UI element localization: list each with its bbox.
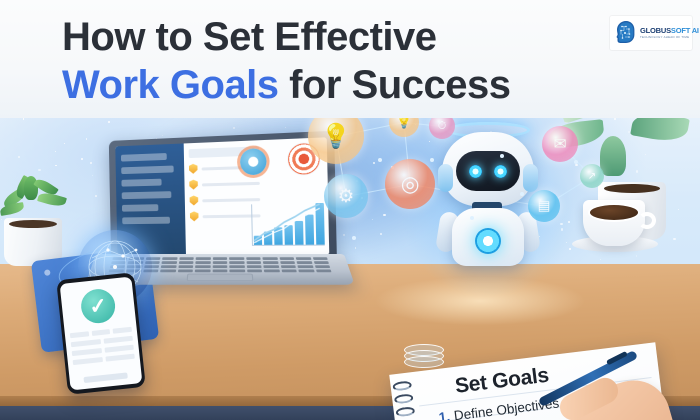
keyboard-key[interactable] (230, 269, 245, 272)
growth-icon: ↗ (580, 164, 604, 188)
keyboard-key[interactable] (280, 265, 295, 268)
keyboard-key[interactable] (196, 257, 211, 260)
phone-cell (113, 327, 132, 334)
logo-name-part1: GLOBUS (640, 26, 671, 35)
plant-soil (604, 184, 660, 193)
keyboard-key[interactable] (279, 257, 294, 260)
sidebar-item (122, 204, 158, 211)
shield-icon (189, 164, 198, 174)
keyboard-key[interactable] (178, 269, 193, 272)
keyboard-key[interactable] (195, 269, 210, 272)
sparkle (86, 138, 88, 140)
sparkle (636, 255, 637, 256)
spiral-ring (392, 380, 412, 391)
sparkle (645, 154, 646, 155)
sparkle (678, 209, 679, 210)
notepad-item-number: 1. (438, 409, 451, 420)
checklist-row (189, 178, 260, 190)
keyboard-key[interactable] (246, 257, 261, 260)
phone-cell (104, 345, 134, 353)
keyboard-key[interactable] (246, 261, 261, 264)
dashboard-chart (245, 199, 325, 251)
keyboard-key[interactable] (263, 261, 278, 264)
phone-cell (91, 329, 110, 336)
keyboard-key[interactable] (296, 257, 311, 260)
network-node-dot (352, 236, 356, 240)
keyboard-key[interactable] (263, 257, 278, 260)
sparkle (92, 175, 93, 176)
sparkle (373, 162, 375, 164)
keyboard-key[interactable] (213, 257, 228, 260)
gear-icon (240, 148, 267, 175)
network-node-dot (500, 154, 504, 158)
keyboard-key[interactable] (162, 257, 177, 260)
keyboard-key[interactable] (162, 261, 177, 264)
sidebar-item (122, 217, 170, 224)
keyboard-key[interactable] (229, 261, 244, 264)
keyboard-key[interactable] (212, 265, 227, 268)
hand-with-pen (556, 358, 700, 420)
keyboard-key[interactable] (297, 261, 312, 264)
spiral-ring (395, 406, 415, 417)
network-node-dot (378, 158, 382, 162)
phone-cell (70, 331, 89, 338)
keyboard-key[interactable] (316, 269, 332, 272)
network-node-dot (430, 158, 434, 162)
sparkle (383, 214, 386, 217)
phone-button[interactable] (84, 373, 128, 383)
phone-row (73, 354, 135, 365)
network-node-dot (574, 160, 578, 164)
notepad-spiral-binding (392, 380, 430, 420)
keyboard-key[interactable] (297, 265, 313, 268)
network-node-dot (520, 192, 524, 196)
phone-screen[interactable]: ✓ (60, 277, 143, 391)
briefcase-icon: ▤ (528, 190, 560, 222)
page-title: How to Set Effective Work Goals for Succ… (62, 14, 602, 108)
shield-icon (189, 195, 198, 205)
keyboard-key[interactable] (179, 261, 194, 264)
ai-head-circuit-svg (613, 20, 637, 46)
keyboard-key[interactable] (314, 265, 330, 268)
sparkle (233, 127, 235, 129)
target-icon: ◎ (385, 159, 435, 209)
keyboard-key[interactable] (281, 269, 297, 272)
plant-soil (9, 220, 57, 228)
robot-core-icon (475, 228, 501, 254)
laptop-trackpad[interactable] (187, 274, 254, 281)
keyboard-key[interactable] (313, 261, 329, 264)
cup-handle (638, 212, 656, 229)
keyboard-key[interactable] (212, 269, 227, 272)
tablet-camera (44, 269, 51, 276)
keyboard-key[interactable] (230, 265, 245, 268)
gear-icon: ⚙ (324, 174, 368, 218)
smartphone[interactable]: ✓ (56, 272, 146, 395)
robot-eye-left (469, 165, 482, 178)
chat-bubble-icon: ✉ (542, 126, 578, 162)
robot-ear-right (523, 164, 538, 192)
title-line-1: How to Set Effective (62, 14, 602, 60)
logo-wordmark: GLOBUSSOFT AI TECHNOLOGY AHEAD OF TIME (640, 27, 699, 39)
logo-name-part2: SOFT AI (671, 26, 699, 35)
phone-cell (71, 339, 101, 347)
robot-ear-left (438, 164, 453, 192)
keyboard-key[interactable] (247, 265, 262, 268)
coin (404, 356, 444, 368)
checklist-line (202, 181, 260, 186)
keyboard-key[interactable] (312, 257, 327, 260)
keyboard-key[interactable] (280, 261, 295, 264)
keyboard-key[interactable] (160, 269, 176, 272)
sparkle (55, 151, 56, 152)
phone-cell (72, 348, 102, 356)
title-rest-text: for Success (279, 63, 511, 107)
chart-trend-line (251, 201, 325, 245)
logo-name: GLOBUSSOFT AI (640, 27, 699, 35)
sparkle (380, 233, 382, 235)
keyboard-key[interactable] (196, 261, 211, 264)
coffee-cup (583, 200, 645, 246)
keyboard-key[interactable] (161, 265, 176, 268)
plant-leaf (600, 136, 626, 176)
keyboard-key[interactable] (213, 261, 228, 264)
phone-cell (103, 336, 133, 344)
keyboard-key[interactable] (263, 265, 278, 268)
keyboard-key[interactable] (247, 269, 262, 272)
phone-cell (73, 357, 103, 365)
keyboard-key[interactable] (195, 265, 210, 268)
coffee-liquid (588, 203, 640, 222)
sidebar-item (121, 179, 161, 187)
sparkle (55, 165, 56, 166)
sidebar-item (121, 153, 166, 162)
keyboard-key[interactable] (264, 269, 280, 272)
dashboard-main (183, 137, 329, 255)
sidebar-item (121, 166, 173, 175)
check-circle-icon: ✓ (79, 287, 116, 324)
ai-head-circuit-icon (613, 20, 637, 46)
robot-visor (456, 151, 520, 191)
keyboard-key[interactable] (298, 269, 314, 272)
keyboard-key[interactable] (178, 265, 193, 268)
network-node-dot (470, 216, 474, 220)
robot-eye-right (494, 165, 507, 178)
keyboard-key[interactable] (229, 257, 244, 260)
sidebar-item (122, 191, 172, 199)
sparkle (636, 170, 638, 172)
title-accent-text: Work Goals (62, 63, 279, 107)
poster-canvas: 💡💡⏱⚙◎✉▤↗ (0, 0, 700, 420)
shield-icon (190, 211, 199, 221)
spiral-ring (394, 393, 414, 404)
logo-tagline: TECHNOLOGY AHEAD OF TIME (640, 36, 699, 39)
shield-icon (189, 180, 198, 190)
desk-scene: 💡💡⏱⚙◎✉▤↗ (0, 96, 700, 420)
robot-body (452, 208, 524, 266)
phone-form-rows (70, 327, 135, 365)
keyboard-key[interactable] (179, 257, 194, 260)
ai-robot (432, 116, 544, 266)
title-line-2: Work Goals for Success (62, 62, 602, 108)
phone-cell (105, 354, 135, 362)
brand-logo[interactable]: GLOBUSSOFT AI TECHNOLOGY AHEAD OF TIME (610, 16, 692, 50)
sparkle (1, 219, 2, 220)
sparkle (285, 127, 286, 128)
